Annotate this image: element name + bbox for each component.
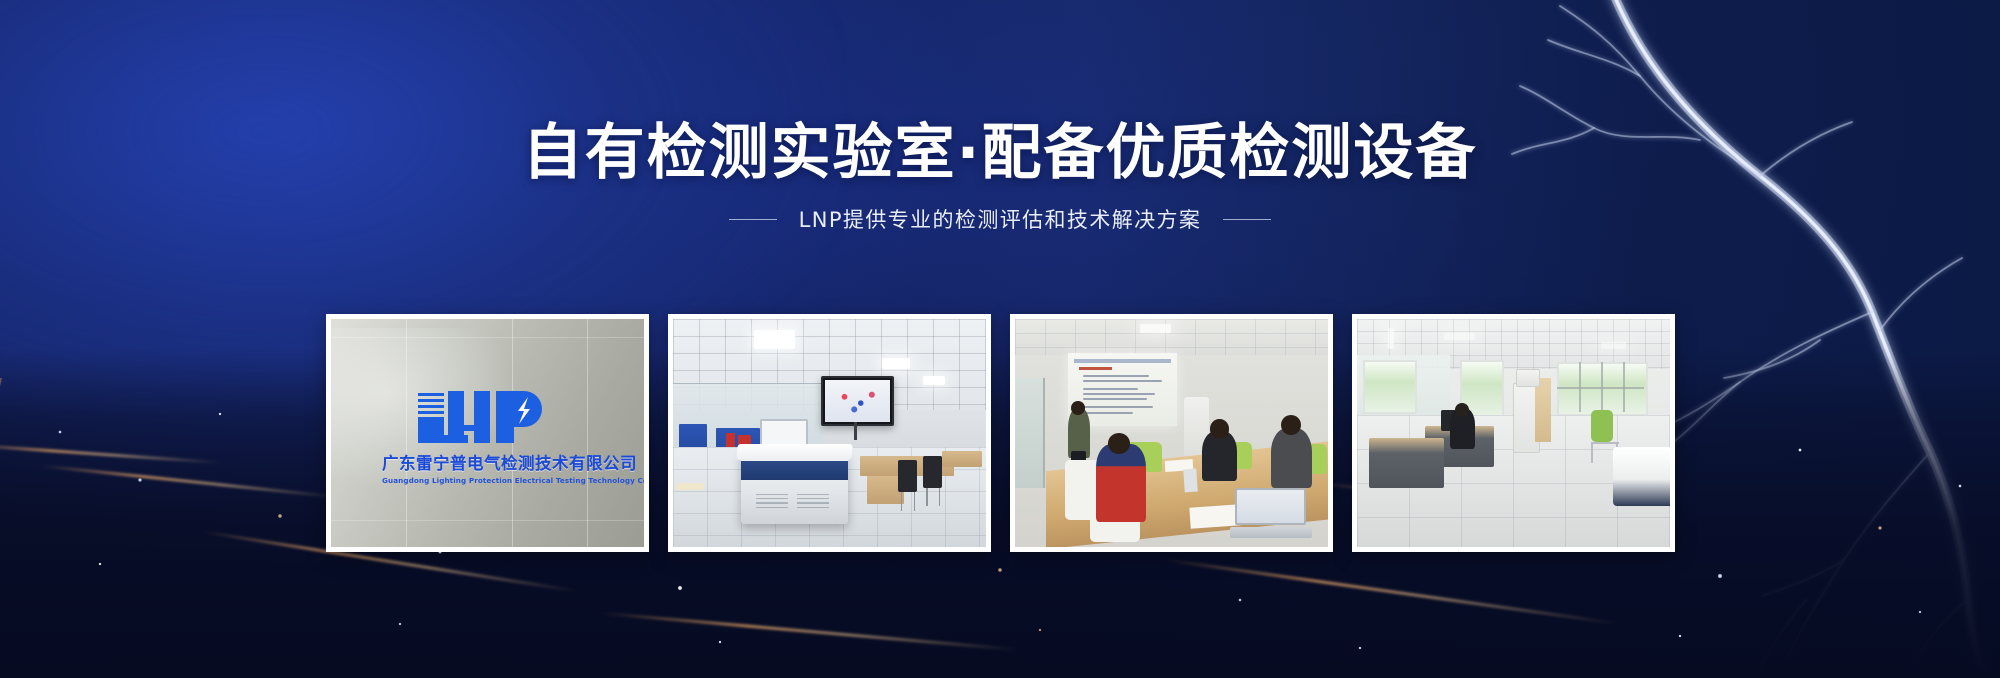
work-desk: [1369, 438, 1444, 488]
headline-block: 自有检测实验室·配备优质检测设备 LNP提供专业的检测评估和技术解决方案: [0, 118, 2000, 234]
ceiling-lamp: [923, 376, 945, 385]
control-console: [741, 451, 847, 524]
console-vent: [797, 502, 829, 504]
console-panel: [741, 461, 847, 480]
photo-testing-laboratory: [673, 319, 986, 547]
wall-line: [331, 337, 644, 338]
ceiling-lamp: [882, 358, 910, 369]
photo-office-workspace: [1357, 319, 1670, 547]
window-mullion: [1557, 387, 1645, 389]
interior-window: [1363, 360, 1417, 414]
rule-right-icon: [1223, 219, 1271, 220]
ceiling-vent: [1444, 333, 1475, 340]
slide-text-line: [1083, 375, 1149, 377]
person-attendee: [1271, 428, 1312, 487]
page-title: 自有检测实验室·配备优质检测设备: [0, 118, 2000, 188]
tv-mount: [854, 422, 857, 440]
page-subtitle: LNP提供专业的检测评估和技术解决方案: [799, 204, 1202, 234]
company-name-cn: 广东雷宁普电气检测技术有限公司: [382, 450, 592, 474]
person-head: [1071, 401, 1085, 415]
console-vent: [797, 494, 829, 496]
wall-tv: [821, 376, 894, 426]
tv-screen: [825, 380, 890, 422]
meeting-ceiling: [1015, 319, 1328, 355]
chair-frame: [1591, 442, 1593, 463]
gallery-card-testing-laboratory[interactable]: [668, 314, 991, 552]
chair-leg: [914, 492, 916, 510]
person-head: [1210, 419, 1229, 438]
bookshelf: [1535, 378, 1551, 442]
chair-frame: [1591, 442, 1619, 444]
ceiling-lamp: [754, 330, 795, 348]
slide-title: [1079, 367, 1112, 370]
photo-gallery: 广东雷宁普电气检测技术有限公司 Guangdong Lighting Prote…: [0, 314, 2000, 552]
wall-ac-unit: [1516, 369, 1540, 387]
gallery-card-meeting-room[interactable]: [1010, 314, 1333, 552]
subtitle-row: LNP提供专业的检测评估和技术解决方案: [0, 204, 2000, 234]
console-vent: [797, 498, 829, 500]
console-vent: [756, 498, 788, 500]
reception-counter: [1613, 447, 1669, 506]
chair-leg: [926, 488, 928, 506]
person-head: [1281, 415, 1301, 436]
laptop-keyboard: [1230, 527, 1311, 538]
hero-banner: 自有检测实验室·配备优质检测设备 LNP提供专业的检测评估和技术解决方案: [0, 0, 2000, 678]
room-door: [1015, 378, 1045, 487]
water-bottle: [1183, 469, 1197, 493]
slide-text-line: [1083, 398, 1147, 400]
visitor-chair: [1591, 410, 1613, 442]
console-vent: [756, 494, 788, 496]
console-vent: [756, 502, 788, 504]
laptop-screen: [1235, 488, 1306, 525]
slide-text-line: [1083, 406, 1153, 408]
person-attendee: [1096, 444, 1146, 522]
person-head: [1108, 433, 1130, 454]
chair-leg: [939, 488, 941, 506]
wall-line: [331, 520, 644, 521]
slide-text-line: [1083, 388, 1138, 390]
gallery-card-company-logo-wall[interactable]: 广东雷宁普电气检测技术有限公司 Guangdong Lighting Prote…: [326, 314, 649, 552]
company-logo-block: 广东雷宁普电气检测技术有限公司 Guangdong Lighting Prote…: [382, 387, 592, 485]
slide-text-line: [1083, 412, 1133, 414]
photo-company-logo-wall: 广东雷宁普电气检测技术有限公司 Guangdong Lighting Prote…: [331, 319, 644, 547]
console-vent: [756, 507, 788, 509]
slide-text-line: [1083, 393, 1155, 395]
company-name-en: Guangdong Lighting Protection Electrical…: [382, 476, 592, 485]
work-desk: [942, 451, 983, 467]
office-chair: [898, 460, 917, 492]
photo-meeting-room: [1015, 319, 1328, 547]
ceiling-lamp: [1388, 328, 1394, 349]
ceiling-vent: [1601, 342, 1626, 349]
ceiling-tiles: [1015, 319, 1328, 355]
exterior-window: [1557, 362, 1649, 416]
rule-left-icon: [729, 219, 777, 220]
chair-leg: [901, 492, 903, 510]
console-vent: [797, 507, 829, 509]
lnp-logo-icon: [416, 387, 558, 443]
laptop: [1230, 488, 1311, 538]
office-chair: [923, 456, 942, 488]
trolley: [676, 483, 704, 490]
console-desktop: [736, 444, 853, 460]
slide-text-line: [1083, 380, 1162, 382]
slide-toolbar: [1074, 359, 1170, 363]
gallery-card-office-workspace[interactable]: [1352, 314, 1675, 552]
ceiling-lamp: [1140, 324, 1171, 333]
